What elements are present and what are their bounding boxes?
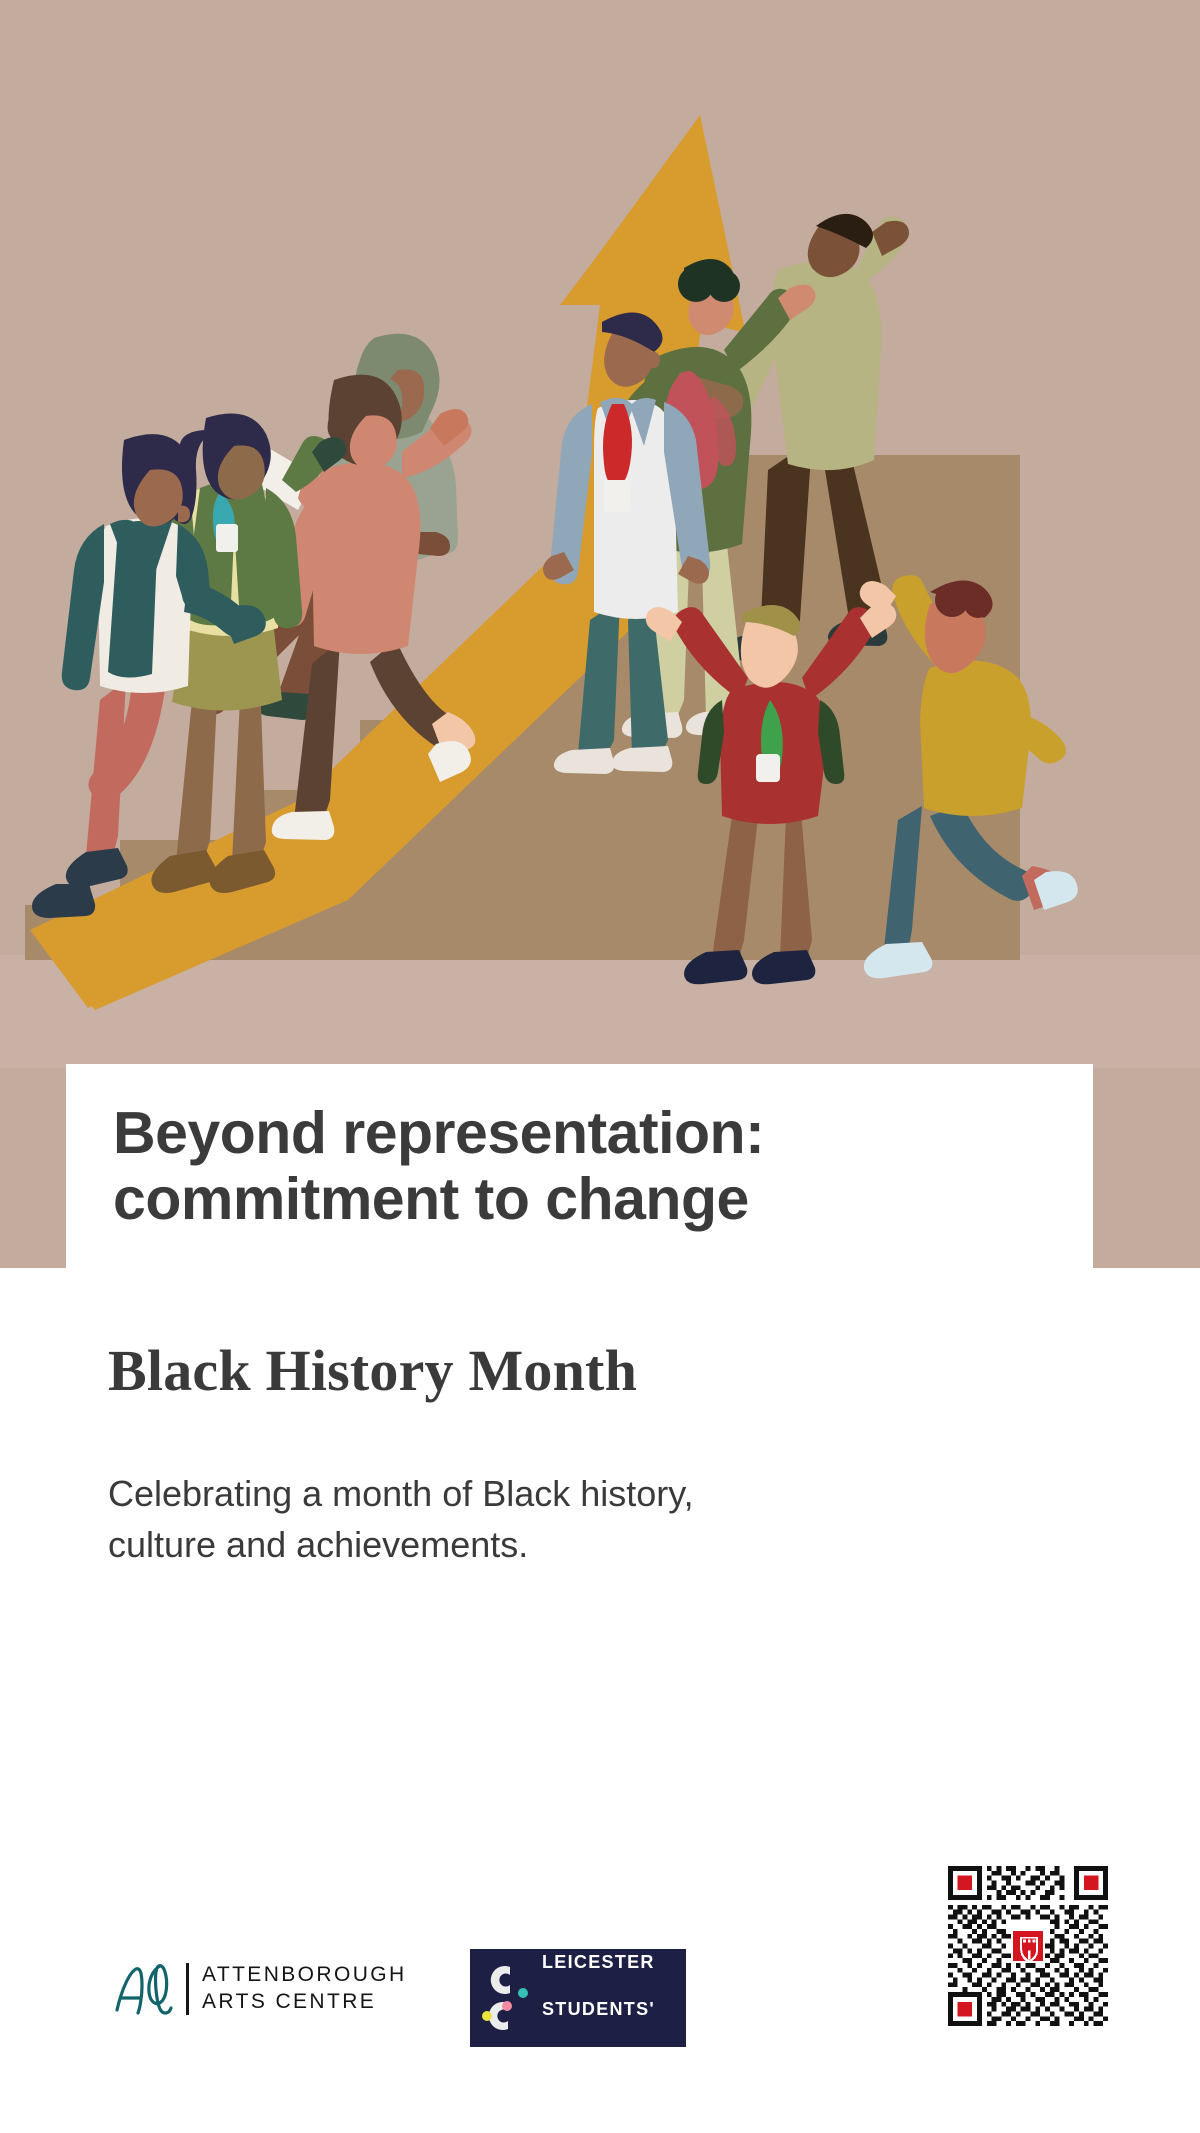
su-line-2: STUDENTS': [542, 1999, 655, 2019]
su-line-1: LEICESTER: [542, 1952, 655, 1972]
logo-attenborough-arts-centre[interactable]: ATTENBOROUGH ARTS CENTRE: [112, 1956, 407, 2022]
attenborough-wordmark: ATTENBOROUGH ARTS CENTRE: [202, 1962, 407, 2015]
logo-divider: [186, 1963, 189, 2015]
students-union-wordmark: LEICESTER STUDENTS' UNION: [542, 1927, 655, 2070]
event-subtitle: Black History Month: [108, 1342, 637, 1400]
university-shield-emblem: [1011, 1929, 1045, 1963]
su-line-3: UNION: [542, 2047, 607, 2067]
page-title: Beyond representation: commitment to cha…: [66, 1101, 764, 1232]
title-band: Beyond representation: commitment to cha…: [66, 1064, 1093, 1269]
qr-code[interactable]: [948, 1866, 1108, 2026]
event-description: Celebrating a month of Black history, cu…: [108, 1468, 828, 1570]
attenborough-line-1: ATTENBOROUGH: [202, 1962, 407, 1989]
logo-leicester-students-union[interactable]: LEICESTER STUDENTS' UNION: [470, 1949, 686, 2047]
students-union-mark-icon: [480, 1961, 536, 2035]
attenborough-monogram-icon: [112, 1960, 180, 2018]
attenborough-line-2: ARTS CENTRE: [202, 1989, 407, 2016]
poster: Beyond representation: commitment to cha…: [0, 0, 1200, 2133]
